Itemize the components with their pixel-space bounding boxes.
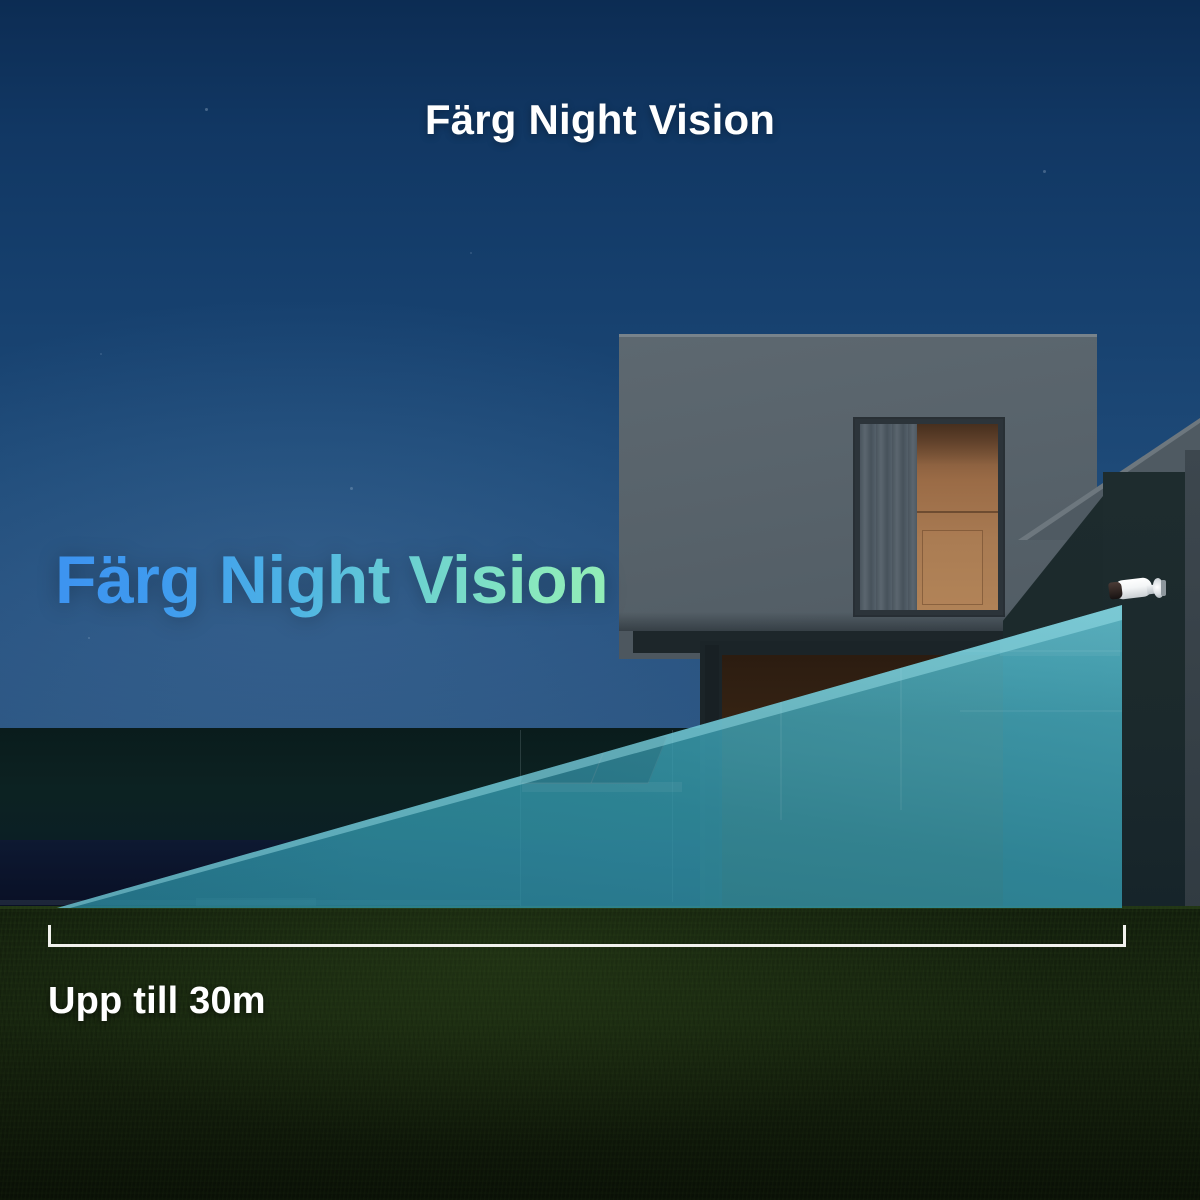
lit-window [855,419,1003,615]
window-interior-panel [922,530,983,605]
window-interior [860,424,998,610]
hero-scene: Färg Night Vision Färg Night Vision Upp … [0,0,1200,1200]
lawn [0,906,1200,1200]
headline: Färg Night Vision [55,541,608,619]
lawn-vignette [0,906,1200,1200]
star-icon [88,637,90,639]
window-top-shade [917,424,998,465]
star-icon [350,487,353,490]
camera-lens-icon [1108,581,1123,599]
window-interior-ledge [917,511,998,513]
page-title: Färg Night Vision [0,96,1200,144]
range-measurement-bracket [48,925,1126,947]
window-curtain [860,424,917,610]
star-icon [1043,170,1046,173]
star-icon [470,252,472,254]
house-wing-side [1185,450,1200,912]
star-icon [100,353,102,355]
bullet-security-camera [1106,568,1168,610]
camera-wall-plate [1161,580,1166,596]
range-caption: Upp till 30m [48,980,266,1023]
